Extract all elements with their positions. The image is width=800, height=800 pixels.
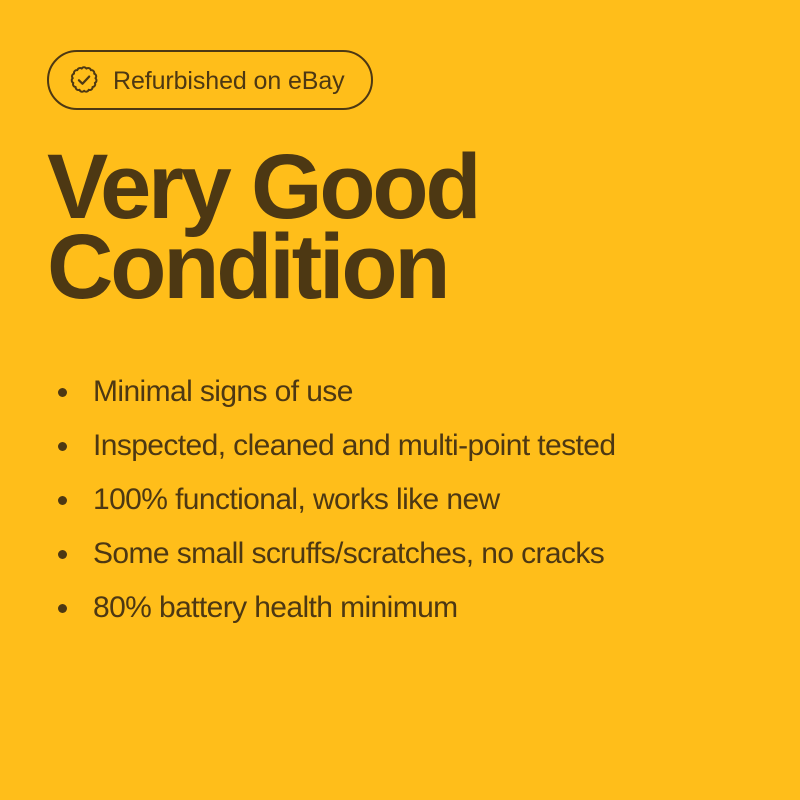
list-item: Some small scruffs/scratches, no cracks: [55, 527, 775, 581]
refurbished-condition-card: Refurbished on eBay Very Good Condition …: [0, 0, 800, 800]
list-item-label: Minimal signs of use: [93, 375, 353, 409]
page-title: Very Good Condition: [47, 147, 747, 307]
condition-feature-list: Minimal signs of use Inspected, cleaned …: [55, 365, 775, 635]
list-item-label: Some small scruffs/scratches, no cracks: [93, 537, 604, 571]
bullet-point-icon: [55, 442, 93, 451]
bullet-point-icon: [55, 388, 93, 397]
list-item-label: Inspected, cleaned and multi-point teste…: [93, 429, 615, 463]
list-item: 100% functional, works like new: [55, 473, 775, 527]
bullet-point-icon: [55, 550, 93, 559]
refurbished-badge[interactable]: Refurbished on eBay: [47, 50, 373, 110]
list-item-label: 100% functional, works like new: [93, 483, 500, 517]
bullet-point-icon: [55, 604, 93, 613]
list-item-label: 80% battery health minimum: [93, 591, 458, 625]
bullet-point-icon: [55, 496, 93, 505]
page-title-line-1: Very Good: [47, 147, 747, 227]
list-item: Minimal signs of use: [55, 365, 775, 419]
refurbished-badge-label: Refurbished on eBay: [113, 69, 345, 94]
page-title-line-2: Condition: [47, 227, 747, 307]
list-item: 80% battery health minimum: [55, 581, 775, 635]
verified-rosette-check-icon: [69, 65, 99, 95]
list-item: Inspected, cleaned and multi-point teste…: [55, 419, 775, 473]
